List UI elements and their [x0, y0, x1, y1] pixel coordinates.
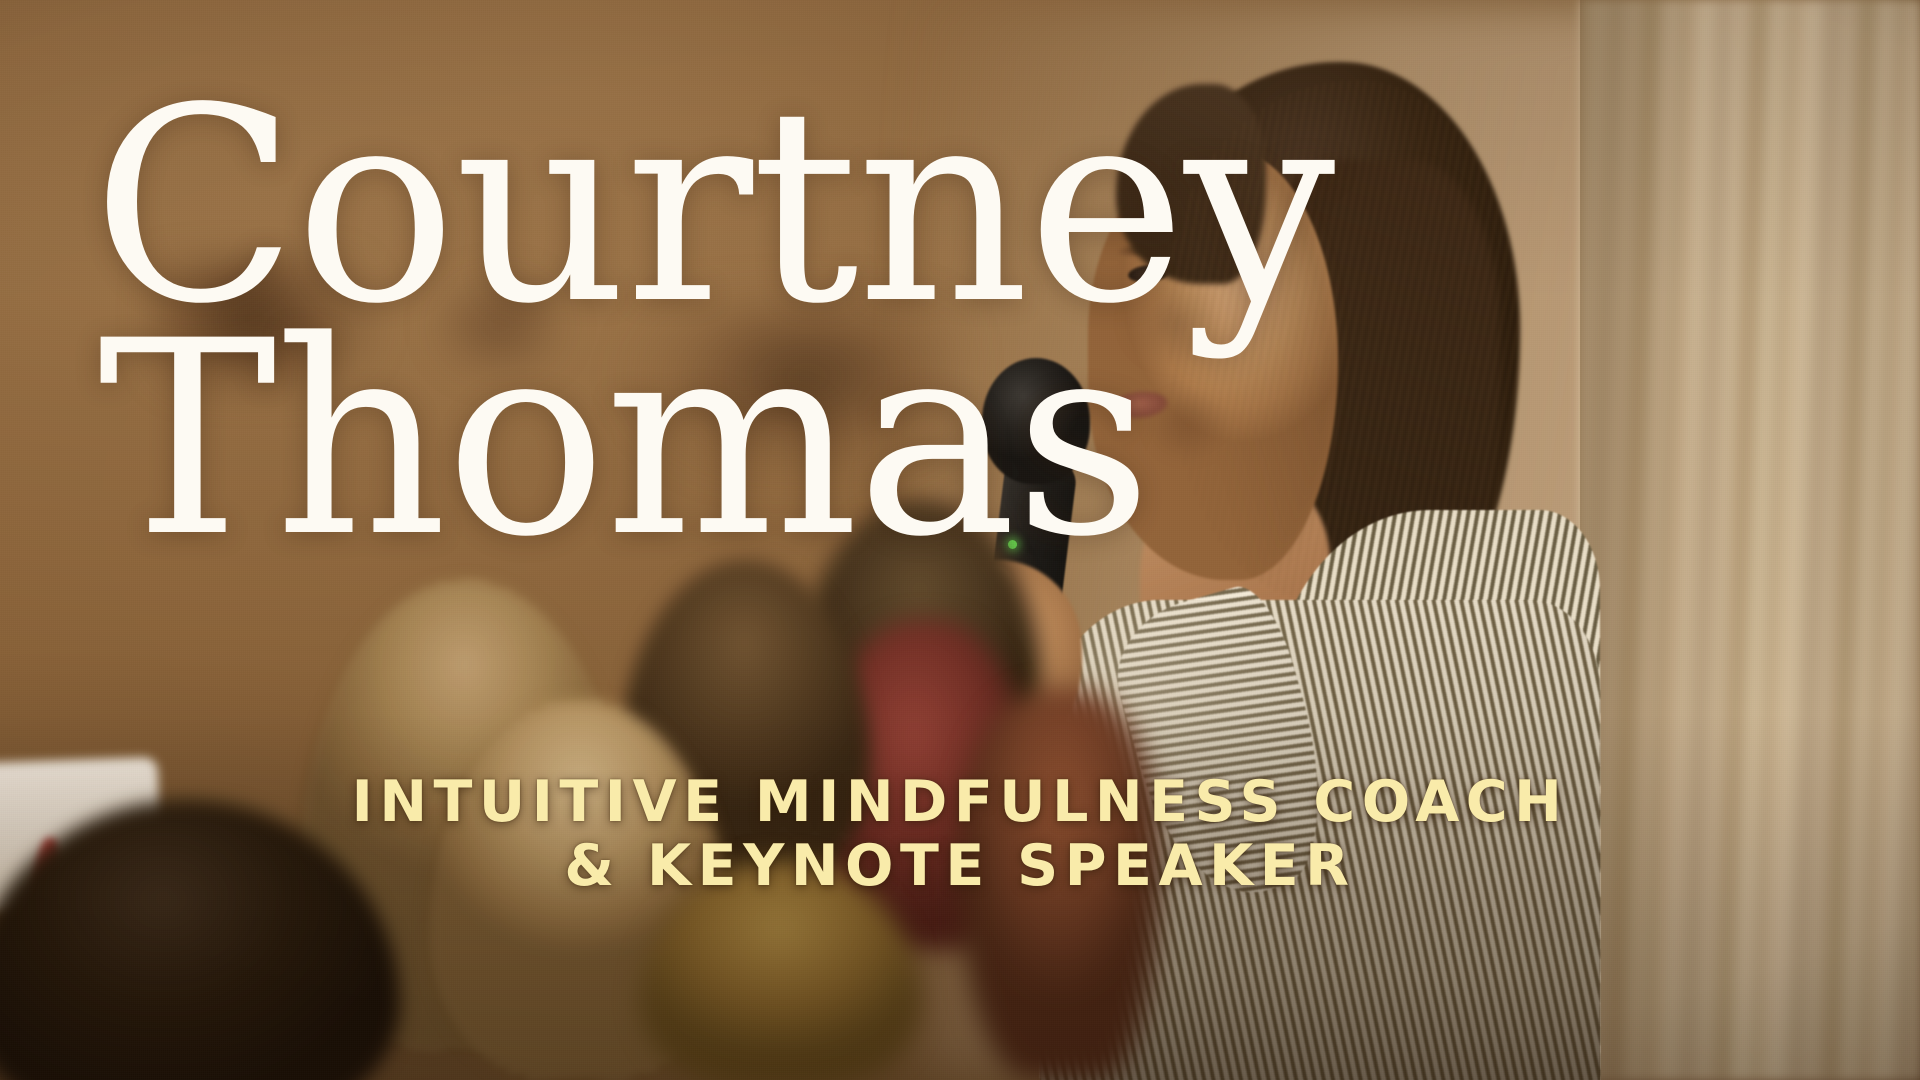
- promo-banner: Courtney Thomas INTUITIVE MINDFULNESS CO…: [0, 0, 1920, 1080]
- text-overlay: Courtney Thomas INTUITIVE MINDFULNESS CO…: [0, 0, 1920, 1080]
- subtitle-line-1: INTUITIVE MINDFULNESS COACH: [0, 770, 1920, 834]
- speaker-name-title: Courtney Thomas: [92, 84, 1192, 563]
- title-line-last-name: Thomas: [98, 317, 1192, 564]
- subtitle-line-2: & KEYNOTE SPEAKER: [0, 834, 1920, 898]
- speaker-role-subtitle: INTUITIVE MINDFULNESS COACH & KEYNOTE SP…: [0, 770, 1920, 899]
